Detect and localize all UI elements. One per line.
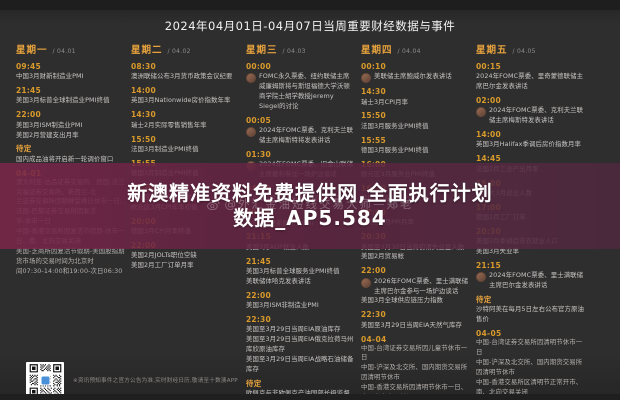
event-row: 美国至3月29日当周EIA天然气库存 (361, 321, 470, 331)
day-date: / 04.02 (168, 48, 191, 55)
event-text: 中国3月财新制造业PMI (16, 72, 84, 82)
time-slot: 14:00英国3月Halifax季调后房价指数月率 (476, 129, 585, 150)
event-row: 中国3月财新制造业PMI (16, 72, 125, 82)
event-text: 美国至3月29日当周EIA原油库存 (246, 325, 341, 335)
slot-time: 待定 (476, 294, 585, 305)
slot-time: 21:15 (476, 260, 585, 271)
overlay-line-1: 新澳精准资料免费提供网,全面执行计划 (127, 181, 493, 206)
holiday-note: 中国-台湾证券交易所因清明节休市一日 (476, 338, 585, 358)
top-bar (0, 0, 620, 10)
day-header: 星期三/ 04.03 (246, 42, 355, 56)
time-slot: 21:45美国3月标普全球服务业PMI终值美联储体哈克发表讲话 (246, 256, 355, 287)
time-slot: 22:30美国至3月29日当周EIA天然气库存 (361, 309, 470, 330)
day-name: 星期四 (361, 42, 393, 56)
slot-time: 00:10 (361, 61, 470, 72)
holiday-note: 间07:30-14:00和19:00-次日06:30 (16, 267, 125, 277)
event-row: 美国3月全球供应链压力指数 (361, 296, 470, 306)
event-text: 2024年FOMC票委、克利夫兰联储主席梅斯特发表讲话 (489, 106, 585, 126)
event-text: 美联储主席鲍威尔发表讲话 (374, 72, 452, 82)
event-row: 2024年FOMC票委、里士满联储主席巴尔金发表讲话 (476, 271, 585, 291)
event-row: 澳洲联储公布3月货币政策会议纪要 (131, 72, 240, 82)
overlay-line-2: 数据_AP5.584 (233, 206, 386, 231)
event-text: 美国3月ISM制造业PMI (16, 121, 82, 131)
slot-time: 21:45 (16, 85, 125, 96)
day-date: / 04.03 (283, 48, 306, 55)
event-row: 美国2月营建支出月率 (16, 131, 125, 141)
event-row: 2024年FOMC票委、里奇蒙德联储主席巴尔金发表讲话 (476, 72, 585, 92)
day-date: / 04.01 (53, 48, 76, 55)
day-date: / 04.05 (513, 48, 536, 55)
event-text: 美国至3月29日当周EIA俄克拉荷马州库欣原油库存 (246, 335, 355, 355)
slot-time: 14:00 (131, 85, 240, 96)
time-slot: 08:30澳洲联储公布3月货币政策会议纪要 (131, 61, 240, 82)
event-row: 2026年FOMC票委、里士满联储主席巴尔金参与一场炉边谈话 (361, 277, 470, 297)
slot-time: 14:00 (476, 129, 585, 140)
event-text: 2026年FOMC票委、里士满联储主席巴尔金参与一场炉边谈话 (374, 277, 470, 297)
slot-time: 00:15 (476, 61, 585, 72)
slot-time: 22:30 (361, 309, 470, 320)
infographic-root: 2024年04月01日-04月07日当周重要财经数据与事件 星期一/ 04.01… (0, 0, 620, 400)
speaker-avatar-icon (246, 73, 256, 83)
event-row: FOMC永久票委、纽约联储主席威廉姆斯将与斯坦福德大学沃顿商学院士胡学教授Jer… (246, 72, 355, 112)
time-slot: 14:30瑞士3月CPI月率 (361, 86, 470, 107)
event-row: 美联储体哈克发表讲话 (246, 277, 355, 287)
event-row: 2024年FOMC票委、克利夫兰联储主席梅斯特将发表讲话 (246, 126, 355, 146)
event-text: 美国2月营建支出月率 (16, 131, 79, 141)
slot-time: 22:00 (246, 290, 355, 301)
time-slot: 15:50法国3月制造业PMI终值 (131, 134, 240, 155)
time-slot: 15:50法国3月服务业PMI终值 (361, 110, 470, 131)
slot-time: 14:30 (131, 109, 240, 120)
speaker-avatar-icon (246, 127, 256, 137)
event-row: 美国3月标普全球服务业PMI终值 (246, 267, 355, 277)
time-slot: 21:45美国3月标普全球制造业PMI终值 (16, 85, 125, 106)
event-text: 美国3月ISM非制造业PMI (246, 301, 319, 311)
event-text: 澳洲联储公布3月货币政策会议纪要 (131, 72, 233, 82)
event-row: 法国3月制造业PMI终值 (131, 145, 240, 155)
qr-center-logo (40, 375, 51, 386)
event-row: 英国3月Nationwide房价指数年率 (131, 96, 240, 106)
page-title: 2024年04月01日-04月07日当周重要财经数据与事件 (165, 18, 455, 34)
slot-time: 22:30 (246, 314, 355, 325)
event-row: 瑞士3月CPI月率 (361, 98, 470, 108)
slot-time: 待定 (16, 143, 125, 154)
event-text: 2024年FOMC票委、克利夫兰联储主席梅斯特将发表讲话 (259, 126, 355, 146)
sub-date-label: 04-05 (476, 329, 585, 338)
holiday-note: 美国-芝商所因复活节假期-美国股指期货市场的交易时间为北京时 (16, 247, 125, 267)
time-slot: 09:45中国3月财新制造业PMI (16, 61, 125, 82)
day-header: 星期一/ 04.01 (16, 42, 125, 56)
slot-time: 15:50 (361, 110, 470, 121)
slot-time: 02:00 (476, 95, 585, 106)
slot-time: 08:30 (131, 61, 240, 72)
event-row: 美国2月工厂订单月率 (131, 261, 240, 271)
event-row: 美国2月贸易帐 (361, 252, 470, 262)
time-slot: 14:00英国3月Nationwide房价指数年率 (131, 85, 240, 106)
slot-time: 00:00 (246, 61, 355, 72)
event-text: 美国3月标普全球制造业PMI终值 (16, 96, 110, 106)
event-row: 美国3月标普全球制造业PMI终值 (16, 96, 125, 106)
speaker-avatar-icon (361, 278, 371, 288)
event-row: 美国3月ISM非制造业PMI (246, 301, 355, 311)
time-slot: 待定国内成品油将开启新一轮调价窗口 (16, 143, 125, 164)
time-slot: 15:55德国3月服务业PMI终值 (361, 135, 470, 156)
slot-time: 00:05 (246, 115, 355, 126)
speaker-avatar-icon (361, 73, 371, 83)
time-slot: 00:10美联储主席鲍威尔发表讲话 (361, 61, 470, 83)
day-header: 星期四/ 04.04 (361, 42, 470, 56)
event-row: 美国至3月29日当周EIA俄克拉荷马州库欣原油库存 (246, 335, 355, 355)
event-row: 英国3月Halifax季调后房价指数月率 (476, 140, 585, 150)
event-text: 英国3月Nationwide房价指数年率 (131, 96, 231, 106)
day-name: 星期二 (131, 42, 163, 56)
event-row: 美国3月ISM制造业PMI (16, 121, 125, 131)
time-slot: 00:00FOMC永久票委、纽约联储主席威廉姆斯将与斯坦福德大学沃顿商学院士胡学… (246, 61, 355, 112)
page-title-wrap: 2024年04月01日-04月07日当周重要财经数据与事件 (0, 10, 620, 42)
time-slot: 22:00美国3月ISM非制造业PMI (246, 290, 355, 311)
sub-date-label: 04-04 (361, 335, 470, 344)
event-text: 德国3月服务业PMI终值 (361, 146, 429, 156)
event-text: 2024年FOMC票委、里奇蒙德联储主席巴尔金发表讲话 (476, 72, 585, 92)
time-slot: 02:002024年FOMC票委、克利夫兰联储主席梅斯特发表讲话 (476, 95, 585, 126)
event-text: 沙特阿美在每月5日左右公布官方原油售价 (476, 305, 585, 325)
footer-text: ※资讯预知事件之官方公告为准,实时财经日历,敬请至十数澳APP (73, 376, 238, 384)
slot-time: 15:55 (361, 135, 470, 146)
time-slot: 22:002026年FOMC票委、里士满联储主席巴尔金参与一场炉边谈话美国3月全… (361, 265, 470, 306)
time-slot: 21:152024年FOMC票委、里士满联储主席巴尔金发表讲话 (476, 260, 585, 291)
qr-code[interactable] (26, 362, 64, 399)
event-row: 沙特阿美在每月5日左右公布官方原油售价 (476, 305, 585, 325)
event-text: 美国3月全球供应链压力指数 (361, 296, 443, 306)
time-slot: 00:152024年FOMC票委、里奇蒙德联储主席巴尔金发表讲话 (476, 61, 585, 92)
day-header: 星期二/ 04.02 (131, 42, 240, 56)
event-text: 美国2月贸易帐 (361, 252, 404, 262)
slot-time: 21:45 (246, 256, 355, 267)
event-text: 美国2月JOLTs职位空缺 (131, 251, 197, 261)
bottom-strip (0, 394, 620, 400)
event-row: 法国3月服务业PMI终值 (361, 122, 470, 132)
day-date: / 04.04 (398, 48, 421, 55)
slot-time: 14:30 (361, 86, 470, 97)
event-text: 瑞士2月实际零售销售年率 (131, 121, 207, 131)
slot-time: 22:00 (16, 109, 125, 120)
event-row: 美国至3月29日当周EIA原油库存 (246, 325, 355, 335)
day-name: 星期五 (476, 42, 508, 56)
event-row: 美联储主席鲍威尔发表讲话 (361, 72, 470, 83)
time-slot: 00:052024年FOMC票委、克利夫兰联储主席梅斯特将发表讲话 (246, 115, 355, 146)
slot-time: 09:45 (16, 61, 125, 72)
event-text: 美国至3月29日当周EIA天然气库存 (361, 321, 462, 331)
speaker-avatar-icon (476, 272, 486, 282)
day-name: 星期三 (246, 42, 278, 56)
event-text: 美国3月标普全球服务业PMI终值 (246, 267, 340, 277)
event-text: FOMC永久票委、纽约联储主席威廉姆斯将与斯坦福德大学沃顿商学院士胡学教授Jer… (259, 72, 355, 112)
day-header: 星期五/ 04.05 (476, 42, 585, 56)
event-text: 美联储体哈克发表讲话 (246, 277, 311, 287)
time-slot: 待定沙特阿美在每月5日左右公布官方原油售价 (476, 294, 585, 325)
event-row: 德国3月服务业PMI终值 (361, 146, 470, 156)
event-text: 英国3月Halifax季调后房价指数月率 (476, 140, 581, 150)
event-text: 2024年FOMC票委、里士满联储主席巴尔金发表讲话 (489, 271, 585, 291)
event-text: 美国2月工厂订单月率 (131, 261, 194, 271)
event-text: 法国3月制造业PMI终值 (131, 145, 199, 155)
slot-time: 22:00 (361, 265, 470, 276)
event-row: 美国2月JOLTs职位空缺 (131, 251, 240, 261)
speaker-avatar-icon (476, 107, 486, 117)
day-name: 星期一 (16, 42, 48, 56)
slot-time: 01:30 (246, 149, 355, 160)
promo-overlay-band: 新澳精准资料免费提供网,全面执行计划 数据_AP5.584 (0, 163, 620, 249)
event-text: 瑞士3月CPI月率 (361, 98, 408, 108)
event-row: 2024年FOMC票委、克利夫兰联储主席梅斯特发表讲话 (476, 106, 585, 126)
event-row: 瑞士2月实际零售销售年率 (131, 121, 240, 131)
slot-time: 15:50 (131, 134, 240, 145)
time-slot: 14:30瑞士2月实际零售销售年率 (131, 109, 240, 130)
time-slot: 22:00美国3月ISM制造业PMI美国2月营建支出月率 (16, 109, 125, 140)
event-text: 法国3月服务业PMI终值 (361, 122, 429, 132)
